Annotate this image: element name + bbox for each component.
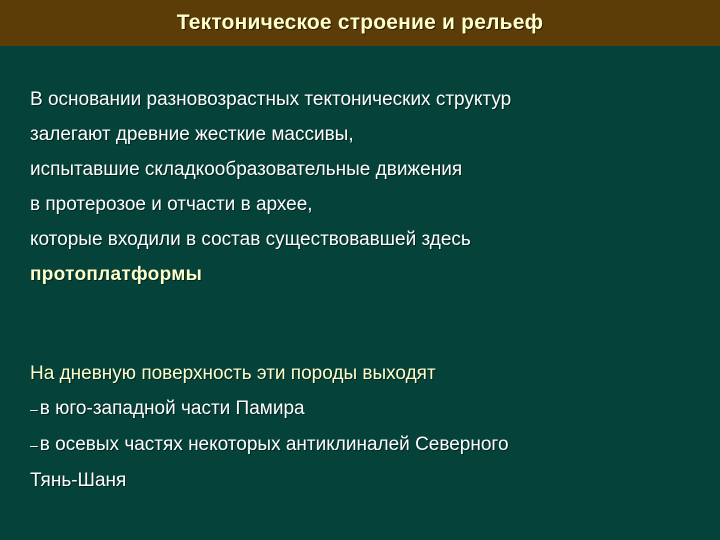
dash-icon: – bbox=[30, 401, 40, 417]
body-line: в протерозое и отчасти в архее, bbox=[30, 187, 694, 222]
body-line-accent: На дневную поверхность эти породы выходя… bbox=[30, 356, 694, 391]
body-line: Тянь-Шаня bbox=[30, 463, 694, 498]
slide-canvas: Тектоническое строение и рельеф В основа… bbox=[0, 0, 720, 540]
bullet-line: –в юго-западной части Памира bbox=[30, 391, 694, 427]
bullet-line: –в осевых частях некоторых антиклиналей … bbox=[30, 427, 694, 463]
slide-body: В основании разновозрастных тектонически… bbox=[0, 46, 720, 540]
dash-icon: – bbox=[30, 437, 40, 453]
text-block-two: На дневную поверхность эти породы выходя… bbox=[30, 356, 694, 498]
body-line: испытавшие складкообразовательные движен… bbox=[30, 152, 694, 187]
body-line: В основании разновозрастных тектонически… bbox=[30, 82, 694, 117]
slide-title-bar: Тектоническое строение и рельеф bbox=[0, 0, 720, 46]
bullet-line-text: в осевых частях некоторых антиклиналей С… bbox=[40, 434, 509, 455]
bullet-line-text: в юго-западной части Памира bbox=[40, 398, 305, 419]
text-block-one: В основании разновозрастных тектонически… bbox=[30, 82, 694, 292]
slide-title: Тектоническое строение и рельеф bbox=[177, 11, 543, 35]
body-line: залегают древние жесткие массивы, bbox=[30, 117, 694, 152]
body-line-emphasis: протоплатформы bbox=[30, 257, 694, 292]
body-line: которые входили в состав существовавшей … bbox=[30, 222, 694, 257]
